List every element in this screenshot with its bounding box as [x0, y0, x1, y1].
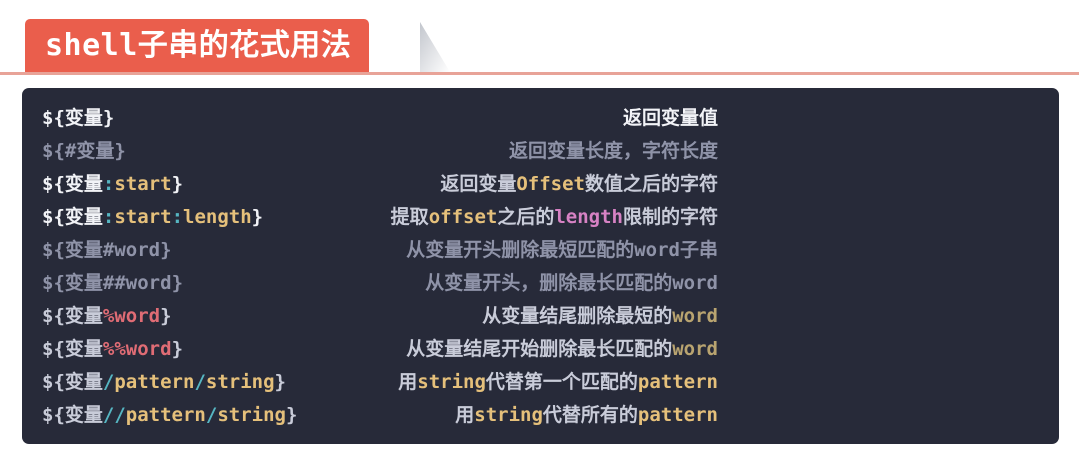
- code-token: }: [103, 107, 114, 129]
- code-token: word: [672, 305, 718, 327]
- code-token: word: [114, 239, 160, 261]
- code-token: word: [126, 338, 172, 360]
- code-token: 代替第一个匹配的: [486, 371, 638, 393]
- expression-description: 返回变量长度，字符长度: [318, 135, 718, 168]
- code-token: 提取: [391, 206, 429, 228]
- code-token: string: [417, 371, 486, 393]
- code-token: offset: [429, 206, 498, 228]
- code-token: 变量: [65, 272, 103, 294]
- code-token: %%: [103, 338, 126, 360]
- code-token: Offset: [516, 173, 585, 195]
- code-token: }: [172, 173, 183, 195]
- code-token: :: [103, 206, 114, 228]
- code-token: ##: [103, 272, 126, 294]
- expression-description: 用string代替第一个匹配的pattern: [318, 366, 718, 399]
- code-token: pattern: [638, 371, 718, 393]
- code-line: ${变量:start}返回变量Offset数值之后的字符: [22, 168, 1059, 201]
- code-line: ${变量#word}从变量开头删除最短匹配的word子串: [22, 234, 1059, 267]
- code-token: 返回变量: [440, 173, 516, 195]
- code-line: ${变量%word}从变量结尾删除最短的word: [22, 300, 1059, 333]
- code-token: 变量: [65, 239, 103, 261]
- code-token: ${: [42, 107, 65, 129]
- code-token: 变量: [65, 338, 103, 360]
- code-token: 限制的字符: [623, 206, 718, 228]
- code-token: ${: [42, 140, 65, 162]
- title-banner-area: shell子串的花式用法: [0, 0, 1079, 78]
- code-token: ${: [42, 173, 65, 195]
- code-token: 代替所有的: [543, 404, 638, 426]
- code-token: word: [114, 305, 160, 327]
- code-line: ${变量##word}从变量开头，删除最长匹配的word: [22, 267, 1059, 300]
- shell-expression: ${变量/pattern/string}: [22, 366, 318, 399]
- code-token: //: [103, 404, 126, 426]
- code-token: 从变量结尾删除最短的: [482, 305, 672, 327]
- code-line: ${变量%%word}从变量结尾开始删除最长匹配的word: [22, 333, 1059, 366]
- code-token: ${: [42, 206, 65, 228]
- expression-description: 从变量结尾开始删除最长匹配的word: [318, 333, 718, 366]
- code-token: 变量: [65, 173, 103, 195]
- code-line: ${变量//pattern/string}用string代替所有的pattern: [22, 399, 1059, 432]
- shell-expression: ${变量%%word}: [22, 333, 318, 366]
- shell-expression: ${变量%word}: [22, 300, 318, 333]
- page-title: shell子串的花式用法: [45, 31, 351, 61]
- code-token: ${: [42, 272, 65, 294]
- code-token: }: [275, 371, 286, 393]
- code-token: start: [114, 206, 171, 228]
- code-token: /: [194, 371, 205, 393]
- code-token: }: [172, 338, 183, 360]
- code-token: ${: [42, 371, 65, 393]
- code-token: :: [103, 173, 114, 195]
- expression-description: 用string代替所有的pattern: [318, 399, 718, 432]
- shell-expression: ${变量:start:length}: [22, 201, 318, 234]
- code-line: ${变量/pattern/string}用string代替第一个匹配的patte…: [22, 366, 1059, 399]
- code-token: 变量: [65, 206, 103, 228]
- code-token: word: [672, 338, 718, 360]
- code-line: ${变量}返回变量值: [22, 102, 1059, 135]
- code-token: :: [172, 206, 183, 228]
- code-token: word: [634, 239, 680, 261]
- code-token: ${: [42, 305, 65, 327]
- code-token: 变量: [65, 107, 103, 129]
- expression-description: 从变量结尾删除最短的word: [318, 300, 718, 333]
- code-token: start: [114, 173, 171, 195]
- shell-expression: ${变量##word}: [22, 267, 318, 300]
- code-token: string: [217, 404, 286, 426]
- code-token: 从变量开头，删除最长匹配的: [425, 272, 672, 294]
- code-token: }: [172, 272, 183, 294]
- title-banner: shell子串的花式用法: [25, 19, 369, 72]
- code-token: pattern: [638, 404, 718, 426]
- code-token: /: [206, 404, 217, 426]
- shell-expression: ${变量}: [22, 102, 318, 135]
- code-token: word: [126, 272, 172, 294]
- code-line: ${#变量}返回变量长度，字符长度: [22, 135, 1059, 168]
- shell-expression: ${变量//pattern/string}: [22, 399, 318, 432]
- code-token: 变量: [65, 305, 103, 327]
- code-token: 从变量结尾开始删除最长匹配的: [406, 338, 672, 360]
- banner-underline-rule: [0, 72, 1079, 75]
- code-token: 变量: [76, 140, 114, 162]
- code-token: pattern: [114, 371, 194, 393]
- code-token: #: [103, 239, 114, 261]
- code-token: }: [114, 140, 125, 162]
- code-token: ${: [42, 338, 65, 360]
- shell-expression: ${变量#word}: [22, 234, 318, 267]
- shell-expression: ${变量:start}: [22, 168, 318, 201]
- code-token: %: [103, 305, 114, 327]
- expression-description: 返回变量Offset数值之后的字符: [318, 168, 718, 201]
- code-token: 子串: [680, 239, 718, 261]
- code-token: }: [160, 305, 171, 327]
- code-token: 从变量开头删除最短匹配的: [406, 239, 634, 261]
- code-token: }: [160, 239, 171, 261]
- expression-description: 返回变量值: [318, 102, 718, 135]
- syntax-reference-code-block: ${变量}返回变量值${#变量}返回变量长度，字符长度${变量:start}返回…: [22, 88, 1059, 444]
- code-token: 用: [455, 404, 474, 426]
- code-token: 返回变量值: [623, 107, 718, 129]
- banner-fold-shadow-icon: [420, 22, 456, 72]
- code-token: length: [554, 206, 623, 228]
- code-token: 变量: [65, 404, 103, 426]
- code-token: ${: [42, 404, 65, 426]
- expression-description: 从变量开头，删除最长匹配的word: [318, 267, 718, 300]
- code-token: 返回变量长度，字符长度: [509, 140, 718, 162]
- code-token: 之后的: [497, 206, 554, 228]
- code-token: 数值之后的字符: [585, 173, 718, 195]
- expression-description: 提取offset之后的length限制的字符: [318, 201, 718, 234]
- code-token: /: [103, 371, 114, 393]
- shell-expression: ${#变量}: [22, 135, 318, 168]
- code-token: string: [206, 371, 275, 393]
- code-token: pattern: [126, 404, 206, 426]
- code-token: word: [672, 272, 718, 294]
- code-token: }: [252, 206, 263, 228]
- code-token: 用: [398, 371, 417, 393]
- expression-description: 从变量开头删除最短匹配的word子串: [318, 234, 718, 267]
- code-token: ${: [42, 239, 65, 261]
- code-token: length: [183, 206, 252, 228]
- code-token: string: [474, 404, 543, 426]
- code-token: }: [286, 404, 297, 426]
- code-token: 变量: [65, 371, 103, 393]
- code-token: #: [65, 140, 76, 162]
- code-line: ${变量:start:length}提取offset之后的length限制的字符: [22, 201, 1059, 234]
